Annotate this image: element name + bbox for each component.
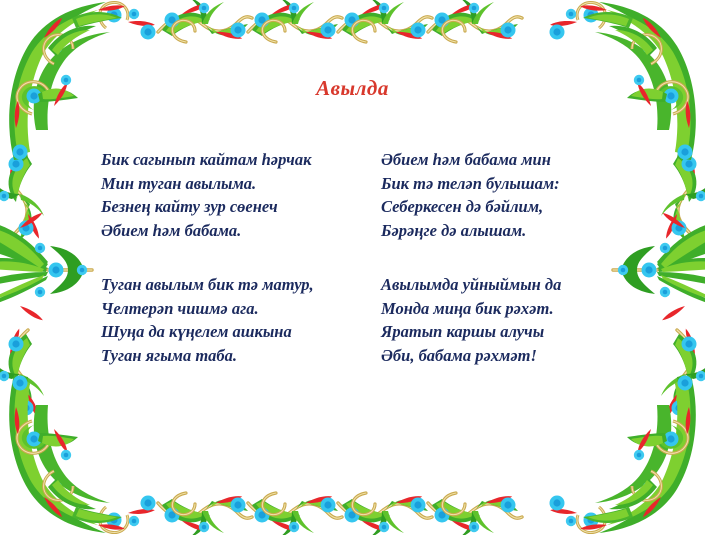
poem-line: Монда миңа бик рәхәт. <box>381 297 561 321</box>
poem-line: Челтерәп чишмә ага. <box>101 297 314 321</box>
poem-line: Мин туган авылыма. <box>101 172 314 196</box>
poem-line: Әби, бабама рәхмәт! <box>381 344 561 368</box>
poem-line: Безнең кайту зур сөенеч <box>101 195 314 219</box>
poem-right-column: Әбием һәм бабама мин Бик тә теләп булыша… <box>381 148 561 367</box>
slide-content: Авылда Бик сагынып кайтам һәрчак Мин туг… <box>0 0 705 535</box>
poem-line: Туган авылым бик тә матур, <box>101 273 314 297</box>
poem-line: Бик тә теләп булышам: <box>381 172 561 196</box>
poem-line: Бәрәңге дә алышам. <box>381 219 561 243</box>
poem-line: Себеркесен дә бәйлим, <box>381 195 561 219</box>
stanza: Бик сагынып кайтам һәрчак Мин туган авыл… <box>101 148 314 242</box>
poem-line: Әбием һәм бабама. <box>101 219 314 243</box>
poem-line: Туган ягыма таба. <box>101 344 314 368</box>
poem-line: Бик сагынып кайтам һәрчак <box>101 148 314 172</box>
stanza: Авылымда уйныймын да Монда миңа бик рәхә… <box>381 273 561 367</box>
poem-left-column: Бик сагынып кайтам һәрчак Мин туган авыл… <box>101 148 314 367</box>
poem-line: Авылымда уйныймын да <box>381 273 561 297</box>
stanza: Туган авылым бик тә матур, Челтерәп чишм… <box>101 273 314 367</box>
poem-line: Шуңа да күңелем ашкына <box>101 320 314 344</box>
poem-line: Әбием һәм бабама мин <box>381 148 561 172</box>
slide-canvas: Авылда Бик сагынып кайтам һәрчак Мин туг… <box>0 0 705 535</box>
page-title: Авылда <box>0 76 705 101</box>
stanza: Әбием һәм бабама мин Бик тә теләп булыша… <box>381 148 561 242</box>
poem-line: Яратып каршы алучы <box>381 320 561 344</box>
